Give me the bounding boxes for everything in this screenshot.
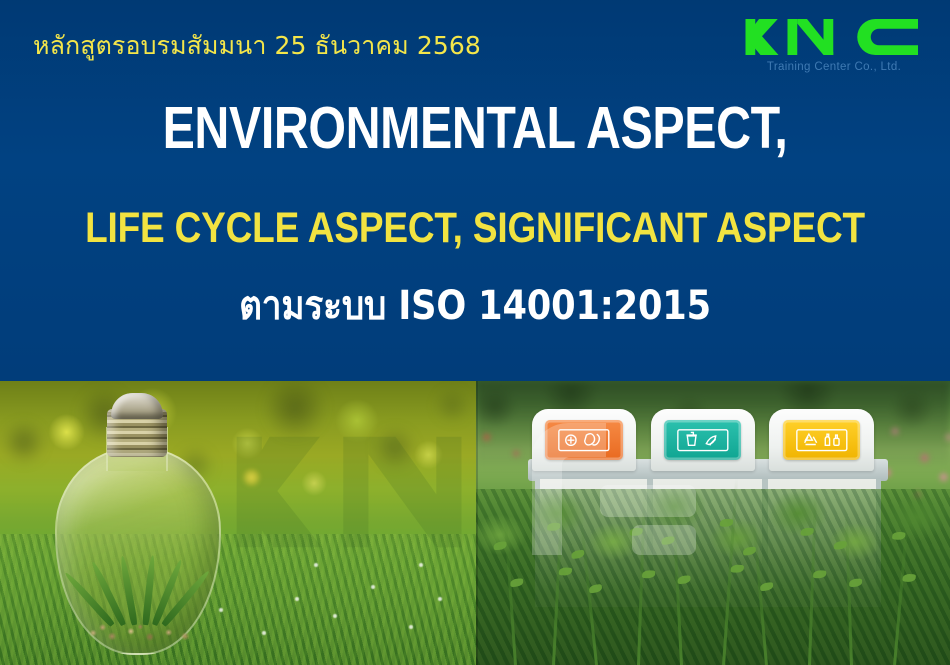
- photo-seam: [476, 381, 478, 665]
- photo-bulb-terrarium: [0, 381, 476, 665]
- page-title: ENVIRONMENTAL ASPECT,: [86, 96, 865, 160]
- standard-line: ตามระบบ ISO 14001:2015: [57, 283, 893, 329]
- course-date-line: หลักสูตรอบรมสัมมนา 25 ธันวาคม 2568: [33, 26, 481, 66]
- recycle-bin[interactable]: [769, 409, 873, 471]
- general-waste-icon: [675, 429, 731, 451]
- organic-waste-lid[interactable]: [545, 420, 622, 460]
- organic-waste-bin[interactable]: [532, 409, 636, 471]
- knc-logo[interactable]: Training Center Co., Ltd.: [744, 16, 924, 74]
- knc-logo-tagline: Training Center Co., Ltd.: [744, 62, 924, 74]
- recycle-icon: [794, 429, 850, 451]
- general-waste-lid[interactable]: [664, 420, 741, 460]
- organic-waste-icon: [556, 429, 612, 451]
- bulb-terrarium: [47, 387, 229, 659]
- title-block: ENVIRONMENTAL ASPECT, LIFE CYCLE ASPECT,…: [0, 96, 950, 329]
- knc-logo-mark: [744, 16, 924, 58]
- seminar-poster: หลักสูตรอบรมสัมมนา 25 ธันวาคม 2568 Train…: [0, 0, 950, 665]
- bulb-tip: [111, 393, 163, 419]
- general-waste-bin[interactable]: [651, 409, 755, 471]
- recycle-lid[interactable]: [783, 420, 860, 460]
- photo-recycling-bins: [476, 381, 950, 665]
- hedge-foreground: [476, 489, 950, 665]
- page-subtitle: LIFE CYCLE ASPECT, SIGNIFICANT ASPECT: [67, 204, 884, 252]
- pebbles: [79, 619, 197, 647]
- dandelion-blur: [243, 469, 260, 486]
- photo-strip: [0, 381, 950, 665]
